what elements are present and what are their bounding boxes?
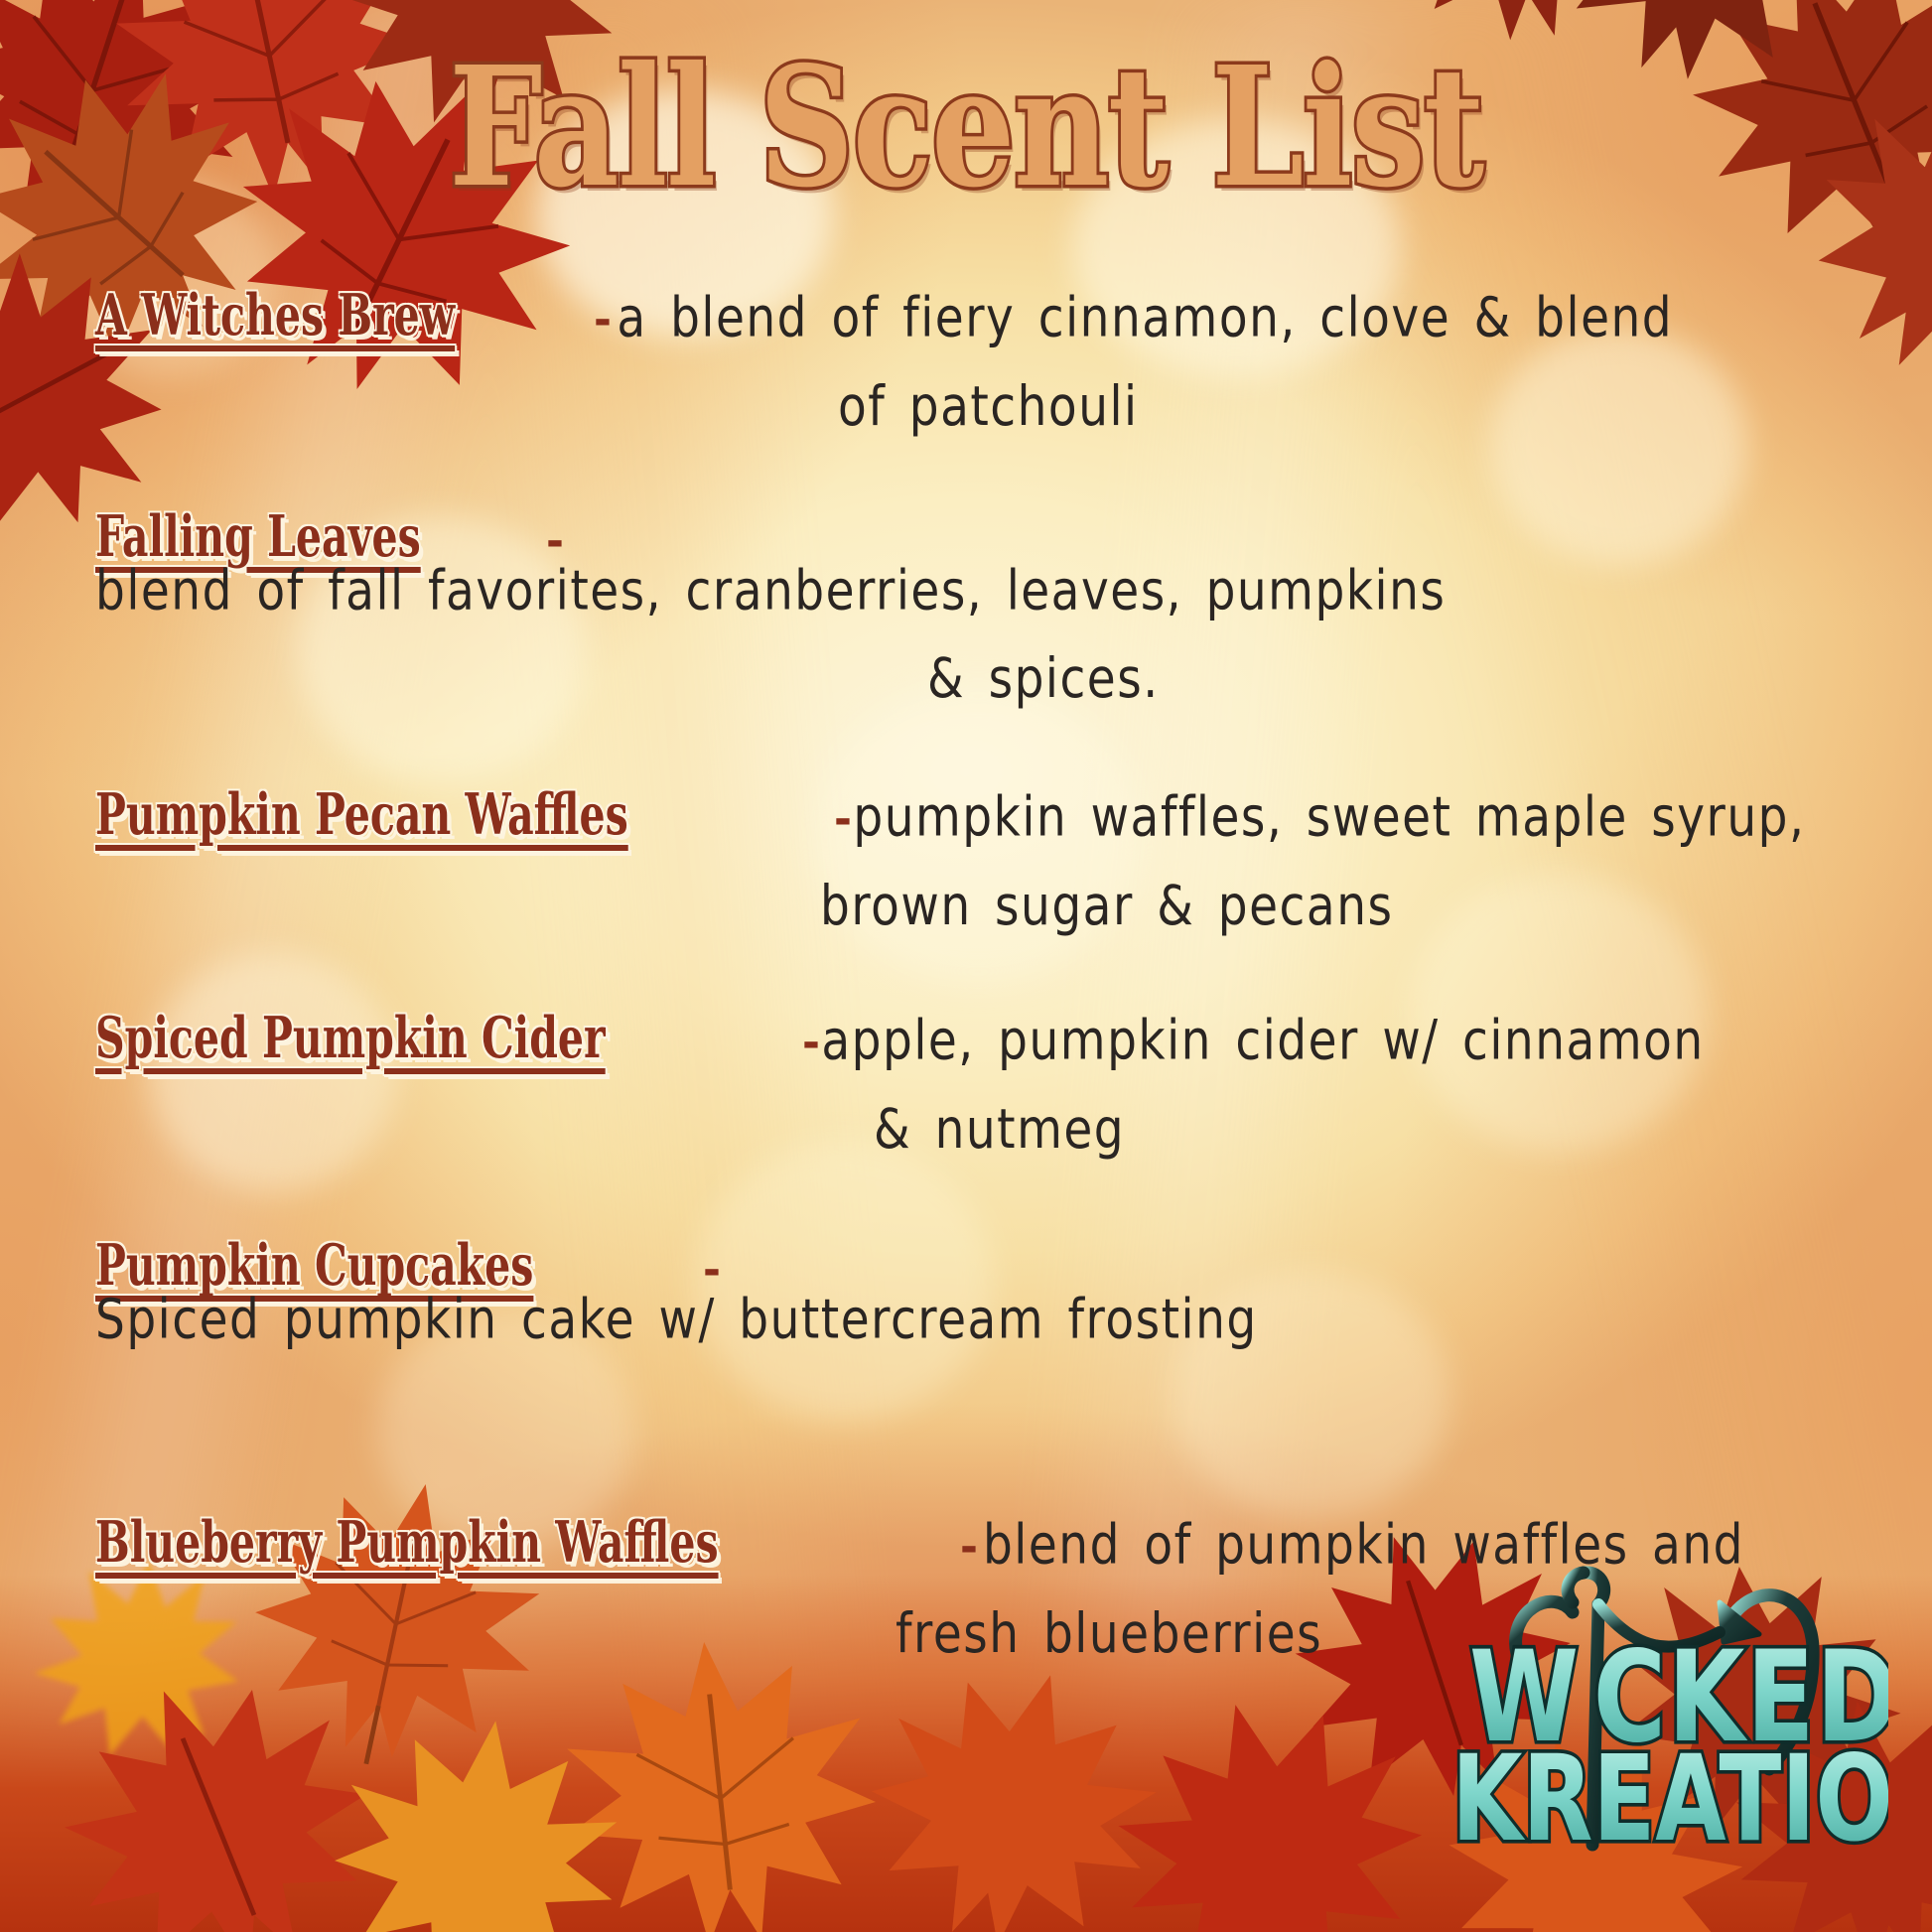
scent-description-line-2-wrap: & nutmeg [95, 1102, 1863, 1157]
scent-dash: - [802, 1017, 820, 1067]
logo-wordmark-line-2: KREATIONS [1451, 1730, 1888, 1868]
scent-entry: Pumpkin Cupcakes- Spiced pumpkin cake w/… [95, 1236, 1863, 1345]
scent-entry: Falling Leaves- blend of fall favorites,… [95, 507, 1863, 705]
scent-dash: - [594, 294, 612, 345]
scent-description-line-1: Spiced pumpkin cake w/ buttercream frost… [95, 1291, 1258, 1349]
scent-description-line-2-wrap: brown sugar & pecans [95, 879, 1863, 933]
fall-scent-list-poster: Fall Scent List A Witches Brew- a blend … [0, 0, 1932, 1932]
logo-text-kreations: KREATIONS [1451, 1730, 1888, 1868]
scent-description-line-1: pumpkin waffles, sweet maple syrup, [853, 788, 1805, 847]
scent-entry: A Witches Brew- a blend of fiery cinnamo… [95, 286, 1863, 434]
scent-description-line-2: of patchouli [838, 374, 1139, 439]
maple-leaf-decor [309, 1689, 645, 1932]
scent-dash: - [960, 1521, 978, 1572]
scent-entry: Spiced Pumpkin Cider-apple, pumpkin cide… [95, 1009, 1863, 1157]
scent-description-line-2-wrap: of patchouli [95, 379, 1863, 434]
scent-name: Pumpkin Pecan Waffles [95, 785, 628, 845]
scent-description-line-2: & spices. [927, 646, 1160, 711]
scent-entry: Pumpkin Pecan Waffles-pumpkin waffles, s… [95, 785, 1863, 933]
scent-description-line-1: a blend of fiery cinnamon, clove & blend [617, 289, 1673, 347]
scent-dash: - [834, 793, 852, 844]
scent-name: A Witches Brew [95, 286, 455, 345]
scent-description-line-2: & nutmeg [874, 1097, 1125, 1162]
scent-description-line-1: apple, pumpkin cider w/ cinnamon [821, 1012, 1704, 1070]
scent-name: Blueberry Pumpkin Waffles [95, 1513, 719, 1573]
scent-description-line-1: blend of fall favorites, cranberries, le… [95, 562, 1446, 621]
wicked-kreations-logo[interactable]: W CKED KREATIONS [1422, 1547, 1888, 1874]
scent-list: A Witches Brew- a blend of fiery cinnamo… [95, 286, 1863, 1665]
scent-description-line-2: brown sugar & pecans [820, 874, 1393, 938]
scent-description-line-2-wrap: & spices. [95, 651, 1863, 706]
scent-description-line-2: fresh blueberries [896, 1601, 1322, 1666]
scent-name: Spiced Pumpkin Cider [95, 1009, 606, 1068]
